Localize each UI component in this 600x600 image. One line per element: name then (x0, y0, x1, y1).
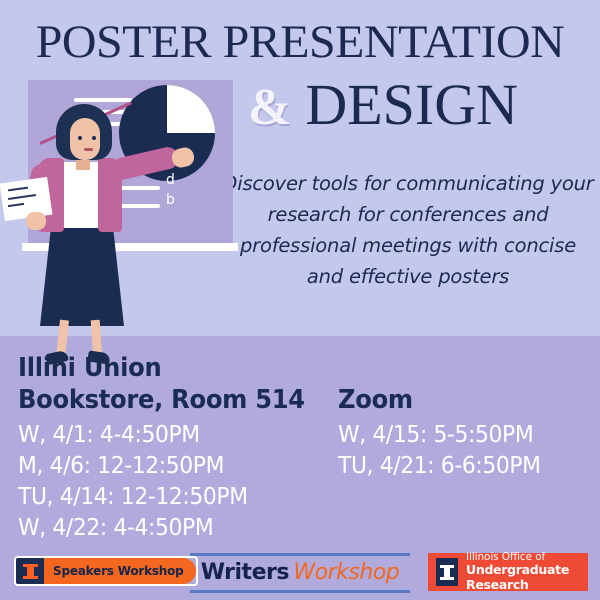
session-item: TU, 4/21: 6-6:50PM (338, 451, 570, 482)
session-item: W, 4/15: 5-5:50PM (338, 420, 570, 451)
illinois-i-icon (16, 558, 44, 584)
venue-name-zoom: Zoom (338, 384, 565, 416)
session-list-zoom: W, 4/15: 5-5:50PM TU, 4/21: 6-6:50PM (338, 420, 570, 482)
poster: POSTER PRESENTATION &DESIGN Discover too… (0, 0, 600, 600)
figure-left-hand (26, 212, 46, 230)
title-design-word: DESIGN (305, 72, 518, 137)
poster-title-line-1: POSTER PRESENTATION (0, 18, 600, 66)
illinois-i-icon (436, 558, 458, 586)
figure-skirt (40, 220, 124, 326)
venue-name-line-2: Bookstore, Room 514 (18, 384, 316, 416)
session-item: W, 4/1: 4-4:50PM (18, 420, 322, 451)
logo-speakers-workshop[interactable]: Speakers Workshop (14, 556, 198, 586)
figure-eye (92, 136, 96, 140)
session-list-in-person: W, 4/1: 4-4:50PM M, 4/6: 12-12:50PM TU, … (18, 420, 322, 544)
presenter-illustration: p q (0, 60, 250, 350)
venue-name-line-1: Illini Union (18, 352, 316, 384)
presenter-figure (0, 60, 250, 350)
schedule-column-in-person: Illini Union Bookstore, Room 514 W, 4/1:… (18, 352, 338, 544)
figure-cardigan-right (98, 158, 122, 232)
poster-title-line-2: &DESIGN (248, 75, 518, 138)
session-item: W, 4/22: 4-4:50PM (18, 513, 322, 544)
session-item: M, 4/6: 12-12:50PM (18, 451, 322, 482)
session-item: TU, 4/14: 12-12:50PM (18, 482, 322, 513)
iour-label: Illinois Office of Undergraduate Researc… (466, 551, 588, 593)
ampersand-glyph: & (248, 79, 291, 136)
figure-mouth (84, 148, 93, 151)
logo-illinois-undergraduate-research[interactable]: Illinois Office of Undergraduate Researc… (428, 553, 588, 591)
logo-writers-workshop[interactable]: Writers Workshop (190, 553, 410, 593)
speakers-workshop-label: Speakers Workshop (44, 558, 196, 584)
iour-line-2: Undergraduate Research (466, 563, 588, 593)
footer-logos: Speakers Workshop Writers Workshop Illin… (0, 548, 600, 600)
workshop-word: Workshop (293, 560, 399, 585)
schedule-column-zoom: Zoom W, 4/15: 5-5:50PM TU, 4/21: 6-6:50P… (338, 384, 582, 482)
figure-eye (78, 136, 82, 140)
writers-word: Writers (201, 560, 289, 585)
poster-description: Discover tools for communicating your re… (222, 168, 594, 292)
